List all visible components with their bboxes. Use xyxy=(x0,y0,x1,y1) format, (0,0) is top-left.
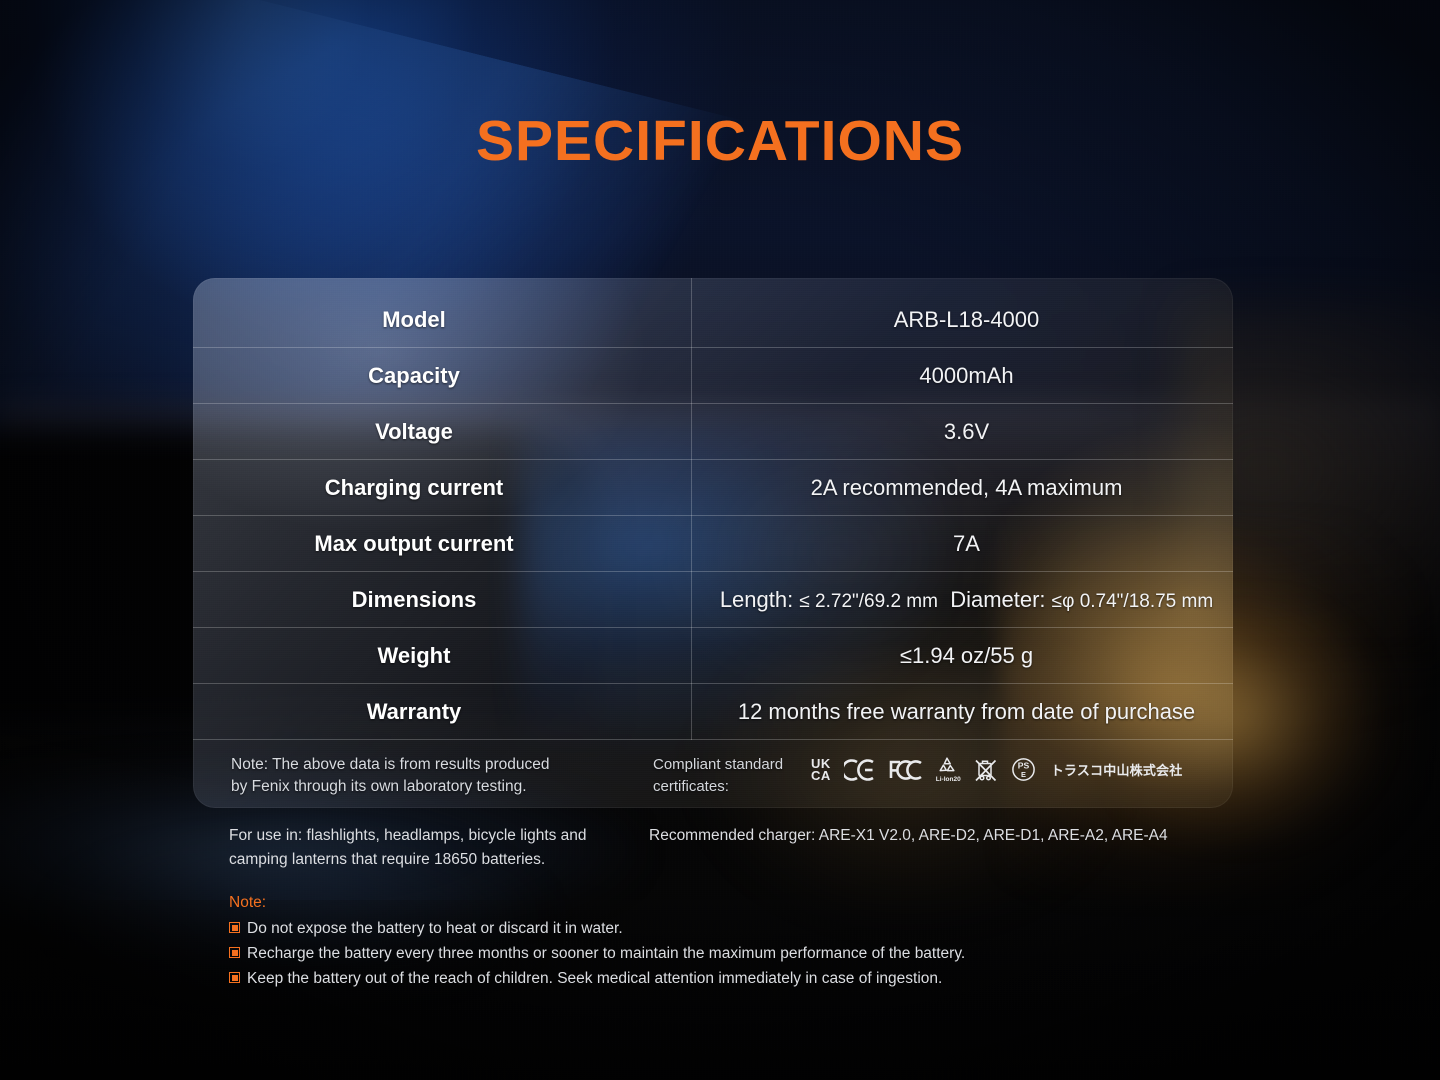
notes-heading: Note: xyxy=(229,894,1239,912)
lab-note-line-1: Note: The above data is from results pro… xyxy=(231,754,631,776)
page-title: SPECIFICATIONS xyxy=(0,108,1440,174)
ukca-line-2: CA xyxy=(811,770,831,782)
weee-crossed-bin-icon xyxy=(974,757,998,783)
spec-value-weight: ≤1.94 oz/55 g xyxy=(692,628,1234,684)
spec-label-capacity: Capacity xyxy=(193,348,692,404)
below-panel-content: For use in: flashlights, headlamps, bicy… xyxy=(229,824,1239,991)
spec-value-voltage: 3.6V xyxy=(692,404,1234,460)
table-row: Charging current 2A recommended, 4A maxi… xyxy=(193,460,1233,516)
panel-footer: Note: The above data is from results pro… xyxy=(193,740,1233,799)
usage-row: For use in: flashlights, headlamps, bicy… xyxy=(229,824,1239,872)
note-text: Keep the battery out of the reach of chi… xyxy=(247,966,942,991)
table-row: Capacity 4000mAh xyxy=(193,348,1233,404)
list-item: Keep the battery out of the reach of chi… xyxy=(229,966,1239,991)
spec-value-warranty: 12 months free warranty from date of pur… xyxy=(692,684,1234,740)
for-use-line-2: camping lanterns that require 18650 batt… xyxy=(229,848,649,872)
li-ion-caption: Li-Ion20 xyxy=(936,776,961,783)
for-use-line-1: For use in: flashlights, headlamps, bicy… xyxy=(229,824,649,848)
fcc-icon xyxy=(889,759,923,781)
specifications-panel: Model ARB-L18-4000 Capacity 4000mAh Volt… xyxy=(193,278,1233,808)
table-row: Max output current 7A xyxy=(193,516,1233,572)
table-row: Warranty 12 months free warranty from da… xyxy=(193,684,1233,740)
table-row: Model ARB-L18-4000 xyxy=(193,278,1233,348)
spec-value-model: ARB-L18-4000 xyxy=(692,278,1234,348)
specifications-page: SPECIFICATIONS Model ARB-L18-4000 Capaci… xyxy=(0,0,1440,1080)
bullet-square-icon xyxy=(229,972,240,983)
spec-value-charging-current: 2A recommended, 4A maximum xyxy=(692,460,1234,516)
dimensions-length: Length: ≤ 2.72"/69.2 mm xyxy=(720,587,938,613)
spec-label-voltage: Voltage xyxy=(193,404,692,460)
table-row: Voltage 3.6V xyxy=(193,404,1233,460)
bullet-square-icon xyxy=(229,947,240,958)
spec-label-weight: Weight xyxy=(193,628,692,684)
list-item: Do not expose the battery to heat or dis… xyxy=(229,916,1239,941)
spec-value-max-output-current: 7A xyxy=(692,516,1234,572)
list-item: Recharge the battery every three months … xyxy=(229,941,1239,966)
ukca-icon: UK CA xyxy=(811,758,831,782)
note-text: Do not expose the battery to heat or dis… xyxy=(247,916,623,941)
bullet-square-icon xyxy=(229,922,240,933)
table-row: Dimensions Length: ≤ 2.72"/69.2 mm Diame… xyxy=(193,572,1233,628)
certificates-label-line-1: Compliant standard xyxy=(653,754,803,776)
table-row: Weight ≤1.94 oz/55 g xyxy=(193,628,1233,684)
pse-icon: PS E xyxy=(1011,757,1036,782)
spec-label-dimensions: Dimensions xyxy=(193,572,692,628)
certificate-marks: UK CA xyxy=(811,756,1182,783)
spec-label-charging-current: Charging current xyxy=(193,460,692,516)
svg-text:E: E xyxy=(1021,770,1026,779)
certificates-label: Compliant standard certificates: xyxy=(653,754,803,797)
for-use-in-text: For use in: flashlights, headlamps, bicy… xyxy=(229,824,649,872)
trusco-nakayama-text: トラスコ中山株式会社 xyxy=(1051,760,1183,779)
spec-label-max-output-current: Max output current xyxy=(193,516,692,572)
notes-list: Do not expose the battery to heat or dis… xyxy=(229,916,1239,991)
certificates-label-line-2: certificates: xyxy=(653,776,803,798)
spec-value-dimensions: Length: ≤ 2.72"/69.2 mm Diameter: ≤φ 0.7… xyxy=(692,572,1234,628)
dimensions-diameter: Diameter: ≤φ 0.74"/18.75 mm xyxy=(950,587,1213,613)
spec-value-capacity: 4000mAh xyxy=(692,348,1234,404)
dimensions-length-value: ≤ 2.72"/69.2 mm xyxy=(799,591,938,612)
dimensions-length-prefix: Length: xyxy=(720,587,800,612)
spec-label-model: Model xyxy=(193,278,692,348)
note-text: Recharge the battery every three months … xyxy=(247,941,965,966)
lab-note-line-2: by Fenix through its own laboratory test… xyxy=(231,776,631,798)
dimensions-diameter-prefix: Diameter: xyxy=(950,587,1051,612)
recommended-charger-text: Recommended charger: ARE-X1 V2.0, ARE-D2… xyxy=(649,824,1239,872)
spec-label-warranty: Warranty xyxy=(193,684,692,740)
svg-text:PS: PS xyxy=(1017,761,1029,771)
lab-testing-note: Note: The above data is from results pro… xyxy=(231,754,631,799)
specifications-table: Model ARB-L18-4000 Capacity 4000mAh Volt… xyxy=(193,278,1233,740)
ce-icon xyxy=(844,759,876,781)
recycle-li-ion-icon: Li-Ion20 xyxy=(936,756,961,783)
dimensions-diameter-value: ≤φ 0.74"/18.75 mm xyxy=(1052,591,1214,612)
